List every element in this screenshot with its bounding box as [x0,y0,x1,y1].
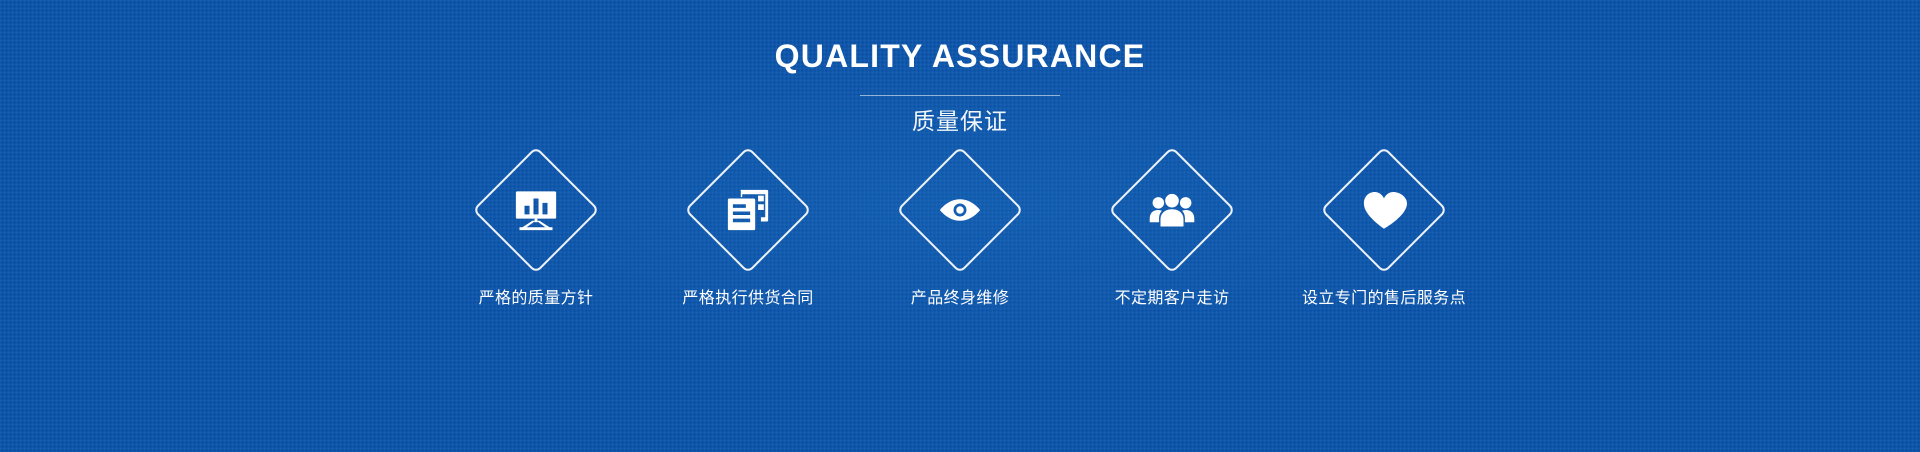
feature-item-after-sales-service[interactable]: 设立专门的售后服务点 [1278,165,1490,310]
diamond-frame [472,146,599,273]
feature-list: 严格的质量方针 严格执行供货合同 [430,165,1490,310]
page-subtitle: 质量保证 [0,105,1920,137]
presentation-chart-icon [513,187,559,233]
diamond-frame [896,146,1023,273]
diamond-frame [1108,146,1235,273]
feature-label: 严格的质量方针 [479,288,594,310]
title-divider [860,95,1060,96]
diamond-frame [684,146,811,273]
feature-label: 产品终身维修 [911,288,1009,310]
feature-label: 严格执行供货合同 [682,288,813,310]
documents-contract-icon [725,187,771,233]
feature-item-customer-visits[interactable]: 不定期客户走访 [1066,165,1278,310]
feature-item-quality-policy[interactable]: 严格的质量方针 [430,165,642,310]
banner-heading: QUALITY ASSURANCE 质量保证 [0,36,1920,137]
page-title: QUALITY ASSURANCE [0,36,1920,76]
eye-icon [937,187,983,233]
heart-icon [1361,187,1407,233]
users-group-icon [1149,187,1195,233]
feature-item-supply-contract[interactable]: 严格执行供货合同 [642,165,854,310]
feature-item-lifetime-repair[interactable]: 产品终身维修 [854,165,1066,310]
feature-label: 设立专门的售后服务点 [1302,288,1466,310]
diamond-frame [1320,146,1447,273]
feature-label: 不定期客户走访 [1115,288,1230,310]
quality-assurance-banner: QUALITY ASSURANCE 质量保证 严格的质量方针 [0,0,1920,452]
